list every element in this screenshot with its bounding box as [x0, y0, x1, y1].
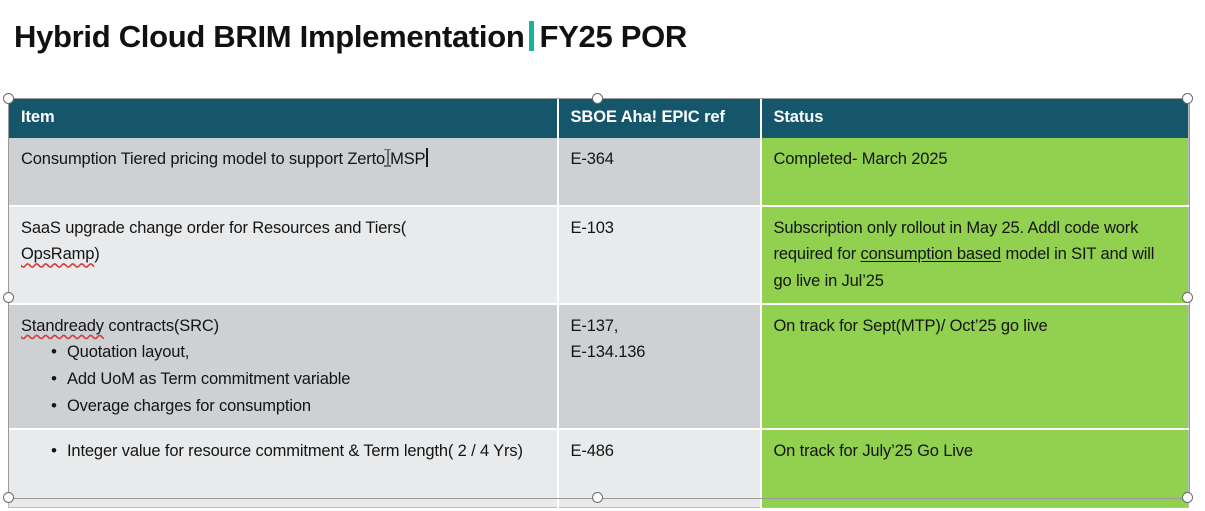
status-underlined-phrase: consumption based [861, 245, 1002, 263]
column-header-item[interactable]: Item [9, 99, 558, 138]
item-heading: Standready contracts(SRC) [21, 313, 545, 340]
resize-handle-middle-right[interactable] [1182, 292, 1193, 303]
epic-ref-line1: E-137, [571, 313, 748, 340]
resize-handle-bottom-right[interactable] [1182, 492, 1193, 503]
item-text-post-cursor: MSP [390, 150, 425, 168]
list-item: Overage charges for consumption [51, 393, 545, 420]
item-text-line1: SaaS upgrade change order for Resources … [21, 215, 545, 242]
misspelled-word: OpsRamp [21, 245, 94, 263]
page-title-sub: FY25 POR [540, 19, 687, 55]
page-title: Hybrid Cloud BRIM Implementation FY25 PO… [14, 17, 687, 55]
item-text-line2-tail: ) [94, 245, 99, 263]
misspelled-word: Standready [21, 317, 104, 335]
list-item: Integer value for resource commitment & … [51, 438, 545, 465]
resize-handle-top-right[interactable] [1182, 93, 1193, 104]
resize-handle-top-center[interactable] [592, 93, 603, 104]
epic-ref-line2: E-134.136 [571, 339, 748, 366]
item-text-pre-cursor: Consumption Tiered pricing model to supp… [21, 150, 385, 168]
cell-status[interactable]: On track for Sept(MTP)/ Oct’25 go live [761, 304, 1189, 429]
cell-item[interactable]: Standready contracts(SRC) Quotation layo… [9, 304, 558, 429]
cell-status[interactable]: Subscription only rollout in May 25. Add… [761, 206, 1189, 304]
cell-status[interactable]: Completed- March 2025 [761, 138, 1189, 206]
resize-handle-top-left[interactable] [3, 93, 14, 104]
list-item: Quotation layout, [51, 339, 545, 366]
item-heading-tail: contracts(SRC) [104, 317, 219, 335]
column-header-epic-ref[interactable]: SBOE Aha! EPIC ref [558, 99, 761, 138]
cell-item[interactable]: Integer value for resource commitment & … [9, 429, 558, 508]
cell-status[interactable]: On track for July’25 Go Live [761, 429, 1189, 508]
column-header-status[interactable]: Status [761, 99, 1189, 138]
table-row[interactable]: Consumption Tiered pricing model to supp… [9, 138, 1189, 206]
table-row[interactable]: SaaS upgrade change order for Resources … [9, 206, 1189, 304]
por-table[interactable]: Item SBOE Aha! EPIC ref Status Consumpti… [8, 98, 1189, 508]
cell-epic-ref[interactable]: E-364 [558, 138, 761, 206]
resize-handle-bottom-center[interactable] [592, 492, 603, 503]
item-bullet-list: Integer value for resource commitment & … [21, 438, 545, 465]
table-header-row: Item SBOE Aha! EPIC ref Status [9, 99, 1189, 138]
resize-handle-bottom-left[interactable] [3, 492, 14, 503]
table-row[interactable]: Standready contracts(SRC) Quotation layo… [9, 304, 1189, 429]
page-title-main: Hybrid Cloud BRIM Implementation [14, 19, 525, 55]
cell-epic-ref[interactable]: E-103 [558, 206, 761, 304]
text-ibeam-cursor-icon [383, 148, 392, 168]
text-caret [426, 148, 428, 167]
title-accent-bar [529, 21, 534, 51]
cell-epic-ref[interactable]: E-486 [558, 429, 761, 508]
list-item: Add UoM as Term commitment variable [51, 366, 545, 393]
cell-epic-ref[interactable]: E-137, E-134.136 [558, 304, 761, 429]
item-bullet-list: Quotation layout, Add UoM as Term commit… [21, 339, 545, 419]
resize-handle-middle-left[interactable] [3, 292, 14, 303]
cell-item[interactable]: Consumption Tiered pricing model to supp… [9, 138, 558, 206]
por-table-container[interactable]: Item SBOE Aha! EPIC ref Status Consumpti… [8, 98, 1188, 497]
cell-item[interactable]: SaaS upgrade change order for Resources … [9, 206, 558, 304]
